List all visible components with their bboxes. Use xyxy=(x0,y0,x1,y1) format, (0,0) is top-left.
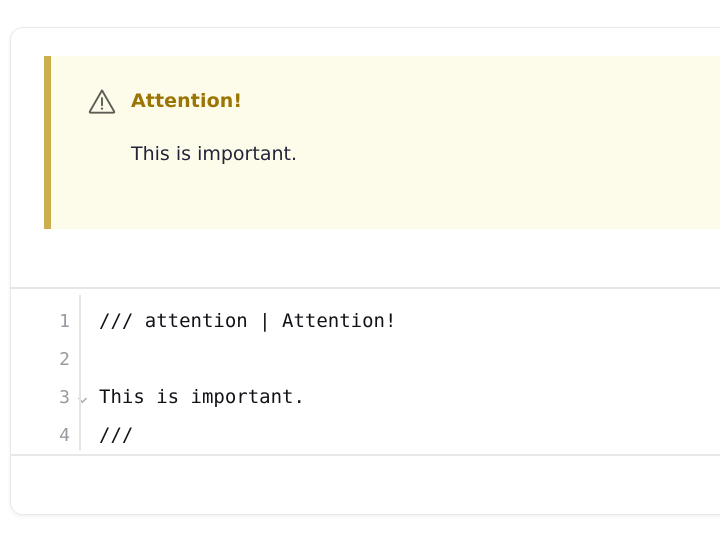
callout-body-text: This is important. xyxy=(131,142,720,167)
code-line[interactable]: /// xyxy=(99,416,720,454)
attention-callout: Attention! This is important. xyxy=(44,56,720,229)
gutter-divider xyxy=(79,295,81,450)
line-number: 2 xyxy=(59,349,70,370)
demo-card: Attention! This is important. 1 2 3 xyxy=(10,27,720,515)
editor-footer xyxy=(11,456,720,514)
line-number: 4 xyxy=(59,425,70,446)
code-editor-pane: 1 2 3 4 xyxy=(11,289,720,514)
code-editor-body[interactable]: 1 2 3 4 xyxy=(11,289,720,456)
line-number-row: 2 xyxy=(11,340,79,378)
code-line[interactable] xyxy=(99,340,720,378)
callout-title-row: Attention! xyxy=(87,86,720,116)
code-lines[interactable]: /// attention | Attention! This is impor… xyxy=(79,289,720,454)
screenshot-root: Attention! This is important. 1 2 3 xyxy=(0,0,720,544)
line-number-row: 1 xyxy=(11,302,79,340)
code-line[interactable]: /// attention | Attention! xyxy=(99,302,720,340)
chevron-down-icon[interactable] xyxy=(76,391,89,404)
preview-pane: Attention! This is important. xyxy=(11,28,720,289)
line-number-row: 4 xyxy=(11,416,79,454)
line-number: 1 xyxy=(59,311,70,332)
warning-triangle-icon xyxy=(87,86,117,116)
line-number-row: 3 xyxy=(11,378,79,416)
line-number: 3 xyxy=(59,387,70,408)
callout-title: Attention! xyxy=(131,92,242,111)
editor-gutter: 1 2 3 4 xyxy=(11,289,79,454)
code-line[interactable]: This is important. xyxy=(99,378,720,416)
